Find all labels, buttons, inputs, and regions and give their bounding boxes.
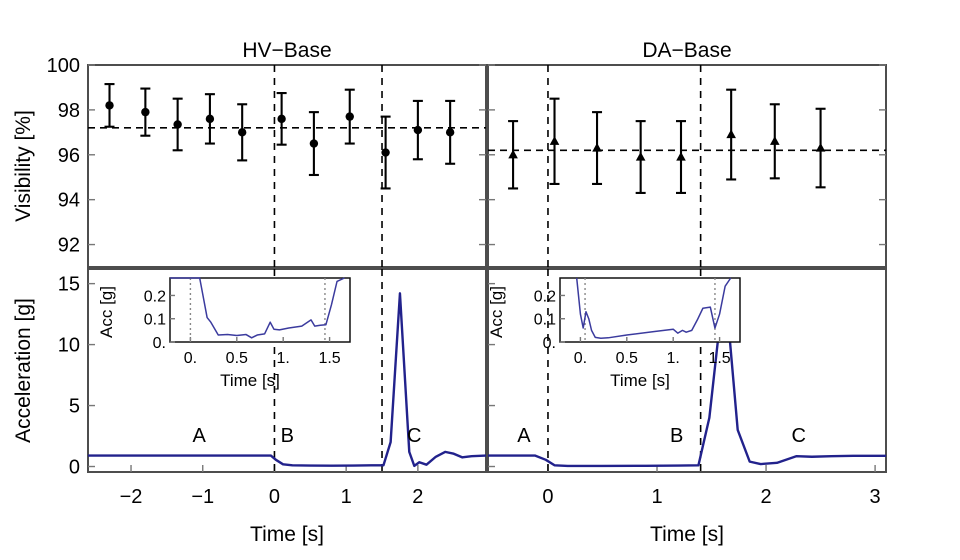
- data-point-marker: [141, 108, 149, 116]
- left-inset-ytick-label: 0.2: [144, 288, 166, 305]
- left-inset-ylabel: Acc [g]: [97, 286, 116, 338]
- data-point-marker: [310, 139, 318, 147]
- left-time-xtick-label: 0: [269, 486, 280, 508]
- right-time-xtick-label: 2: [760, 486, 771, 508]
- data-point-marker: [770, 136, 780, 145]
- data-point-marker: [173, 120, 181, 128]
- visibility-ytick-label: 100: [47, 55, 80, 77]
- left-visibility-panel-frame: [88, 65, 486, 267]
- acceleration-ytick-label: 0: [69, 457, 80, 479]
- data-point-marker: [238, 128, 246, 136]
- left-time-axis-title: Time [s]: [250, 523, 324, 546]
- right-inset-ytick-label: 0.2: [534, 288, 556, 305]
- right-inset-ytick-label: 0.1: [534, 312, 556, 329]
- data-point-marker: [676, 152, 686, 161]
- acceleration-ytick-label: 10: [58, 335, 80, 357]
- right-time-xtick-label: 0: [542, 486, 553, 508]
- right-time-axis-title: Time [s]: [650, 523, 724, 546]
- figure-root: 10098969492Visibility [%]HV−BaseDA−Base1…: [0, 0, 960, 560]
- left-inset-xtick-label: 1.5: [318, 350, 340, 367]
- right-time-xtick-label: 1: [651, 486, 662, 508]
- right-inset-ylabel: Acc [g]: [487, 286, 506, 338]
- right-inset-xtick-label: 1.: [667, 350, 680, 367]
- left-time-xtick-label: 1: [341, 486, 352, 508]
- right-inset-xtick-label: 0.: [574, 350, 587, 367]
- data-point-marker: [346, 112, 354, 120]
- left-inset-xtick-label: 1.: [277, 350, 290, 367]
- left-inset-ytick-label: 0.1: [144, 312, 166, 329]
- left-inset-xlabel: Time [s]: [220, 371, 280, 390]
- left-time-xtick-label: 2: [412, 486, 423, 508]
- acceleration-ytick-label: 5: [69, 396, 80, 418]
- left-time-xtick-label: −2: [120, 486, 143, 508]
- right-phase-label-c: C: [792, 425, 806, 447]
- acceleration-axis-title: Acceleration [g]: [12, 298, 35, 443]
- data-point-marker: [381, 148, 389, 156]
- left-time-xtick-label: −1: [191, 486, 214, 508]
- data-point-marker: [550, 136, 560, 145]
- right-inset-xlabel: Time [s]: [610, 371, 670, 390]
- data-point-marker: [206, 115, 214, 123]
- right-inset-xtick-label: 0.5: [616, 350, 638, 367]
- left-panel-title: HV−Base: [242, 39, 331, 62]
- left-phase-label-c: C: [407, 425, 421, 447]
- left-inset-xtick-label: 0.: [184, 350, 197, 367]
- left-phase-label-b: B: [281, 425, 294, 447]
- data-point-marker: [446, 128, 454, 136]
- right-time-xtick-label: 3: [870, 486, 881, 508]
- data-point-marker: [726, 129, 736, 138]
- visibility-ytick-label: 98: [58, 100, 80, 122]
- data-point-marker: [636, 152, 646, 161]
- data-point-marker: [414, 126, 422, 134]
- data-point-marker: [816, 143, 826, 152]
- visibility-ytick-label: 94: [58, 190, 80, 212]
- visibility-ytick-label: 92: [58, 235, 80, 257]
- right-phase-label-a: A: [517, 425, 531, 447]
- right-panel-title: DA−Base: [642, 39, 731, 62]
- left-phase-label-a: A: [192, 425, 206, 447]
- figure-canvas: 10098969492Visibility [%]HV−BaseDA−Base1…: [0, 0, 960, 560]
- data-point-marker: [105, 101, 113, 109]
- right-phase-label-b: B: [670, 425, 683, 447]
- data-point-marker: [277, 115, 285, 123]
- left-inset-frame: [170, 278, 350, 342]
- left-inset-xtick-label: 0.5: [226, 350, 248, 367]
- visibility-axis-title: Visibility [%]: [12, 110, 35, 222]
- left-inset-ytick-label: 0.: [153, 335, 166, 352]
- data-point-marker: [592, 143, 602, 152]
- acceleration-ytick-label: 15: [58, 274, 80, 296]
- right-inset-xtick-label: 1.5: [708, 350, 730, 367]
- visibility-ytick-label: 96: [58, 145, 80, 167]
- right-inset-ytick-label: 0.: [543, 335, 556, 352]
